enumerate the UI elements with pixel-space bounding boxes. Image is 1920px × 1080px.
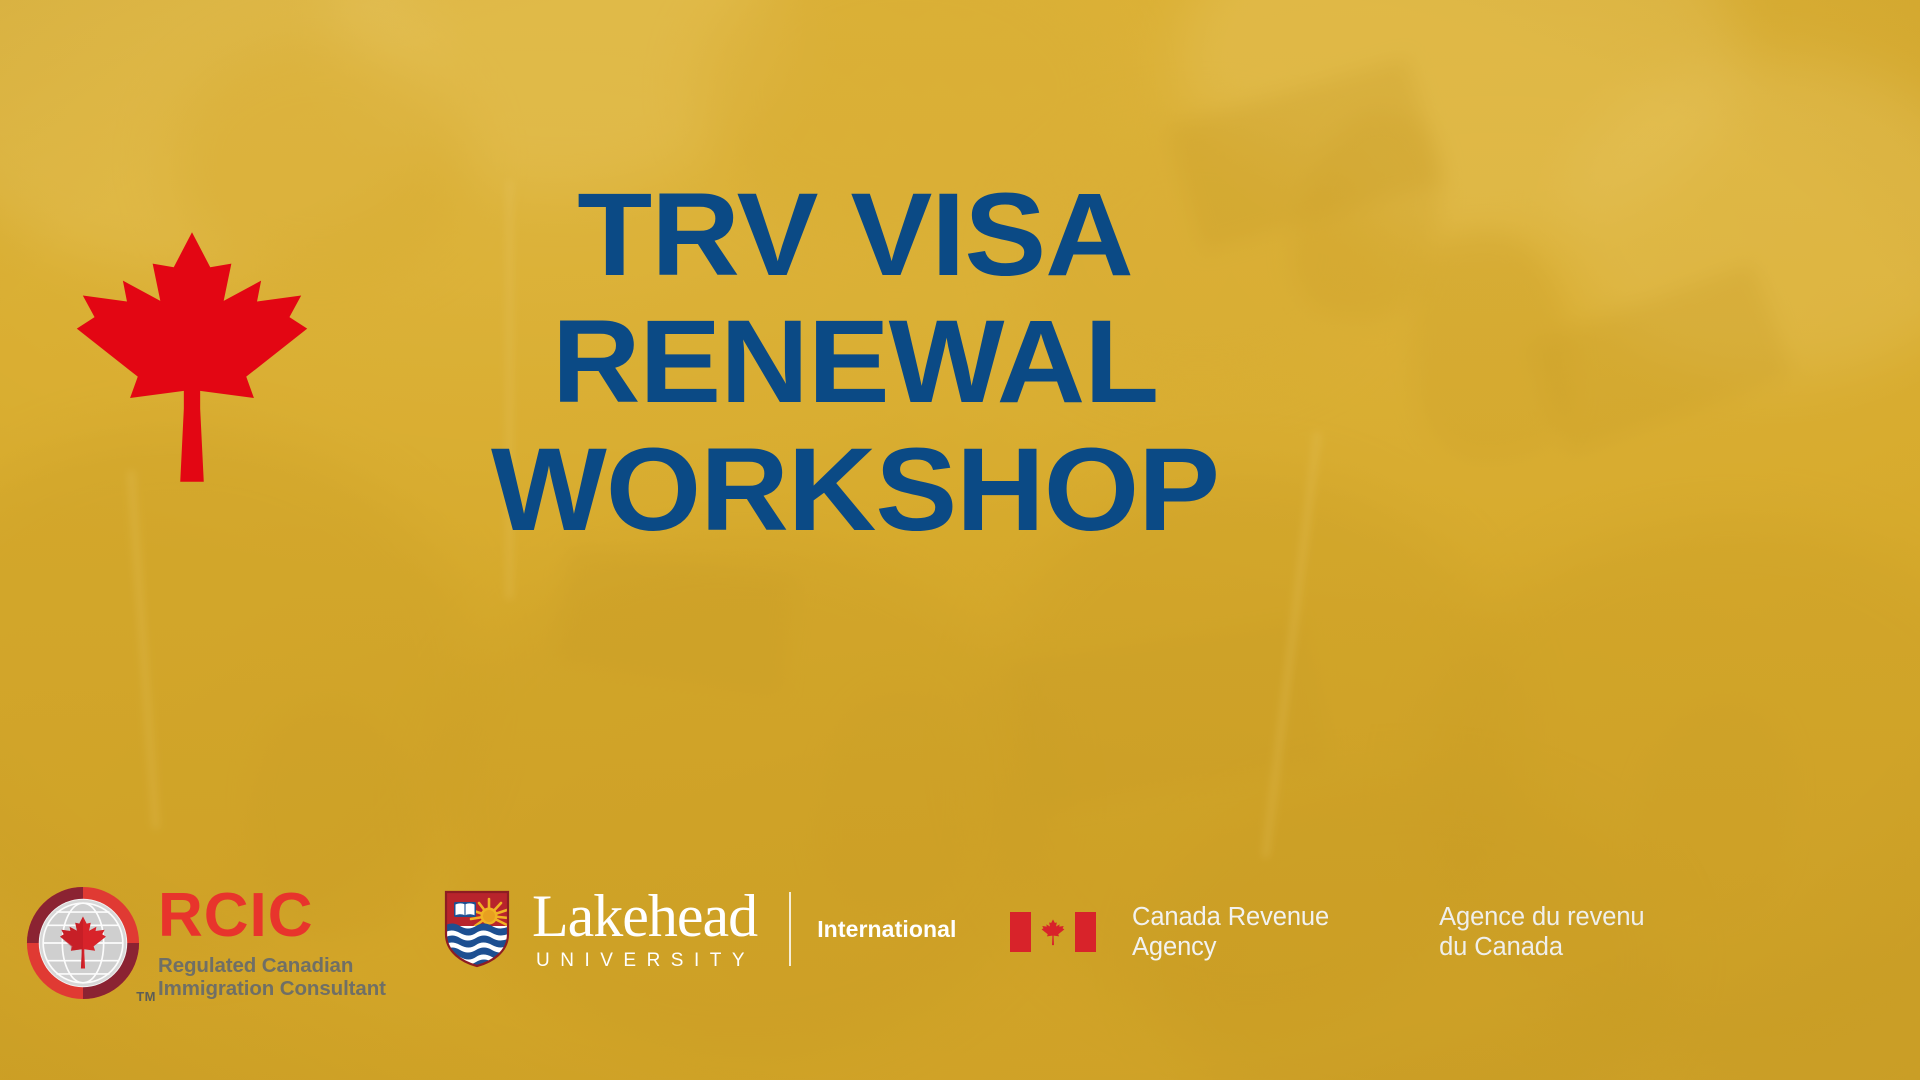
rcic-acronym: RCIC	[158, 886, 386, 947]
cra-french-line-1: Agence du revenu	[1439, 902, 1644, 932]
title-line-3: WORKSHOP	[455, 427, 1256, 554]
lakehead-name: Lakehead	[532, 888, 757, 945]
maple-leaf-icon	[72, 222, 312, 492]
partner-logo-strip: TM RCIC Regulated Canadian Immigration C…	[0, 860, 1920, 1080]
cra-french-line-2: du Canada	[1439, 932, 1644, 962]
rcic-tagline-line-1: Regulated Canadian	[158, 954, 386, 977]
title-line-1: TRV VISA	[455, 172, 1256, 299]
title-line-2: RENEWAL	[455, 299, 1256, 426]
canada-flag-icon	[1010, 912, 1096, 952]
lakehead-university-logo: Lakehead UNIVERSITY International	[444, 888, 957, 970]
cra-french-name: Agence du revenu du Canada	[1439, 902, 1644, 962]
rcic-logo: TM RCIC Regulated Canadian Immigration C…	[24, 884, 386, 1002]
lakehead-international-label: International	[817, 916, 956, 943]
cra-english-line-1: Canada Revenue	[1132, 902, 1329, 932]
page-title: TRV VISA RENEWAL WORKSHOP	[455, 172, 1256, 554]
rcic-emblem-icon: TM	[24, 884, 142, 1002]
cra-english-line-2: Agency	[1132, 932, 1329, 962]
rcic-trademark: TM	[136, 989, 156, 1004]
lakehead-subtitle: UNIVERSITY	[532, 951, 757, 970]
rcic-tagline: Regulated Canadian Immigration Consultan…	[158, 954, 386, 1001]
poster-canvas: TRV VISA RENEWAL WORKSHOP	[0, 0, 1920, 1080]
cra-english-name: Canada Revenue Agency	[1132, 902, 1329, 962]
lakehead-divider	[789, 892, 791, 966]
canada-revenue-agency-logo: Canada Revenue Agency Agence du revenu d…	[1010, 902, 1644, 962]
rcic-tagline-line-2: Immigration Consultant	[158, 977, 386, 1000]
lakehead-shield-icon	[444, 890, 510, 968]
